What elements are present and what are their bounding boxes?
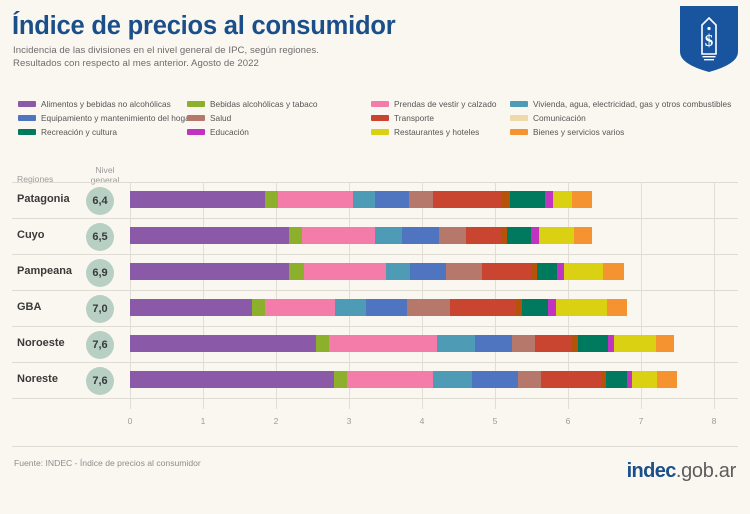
bar-segment[interactable] bbox=[656, 335, 674, 352]
stacked-bar[interactable] bbox=[130, 191, 592, 208]
indec-wordmark: indec.gob.ar bbox=[627, 460, 736, 483]
bar-segment[interactable] bbox=[482, 263, 532, 280]
page-header: Índice de precios al consumidor Incidenc… bbox=[0, 0, 750, 92]
bar-segment[interactable] bbox=[130, 263, 289, 280]
bar-segment[interactable] bbox=[564, 263, 603, 280]
bar-segment[interactable] bbox=[375, 191, 409, 208]
axis-tick-label: 5 bbox=[493, 416, 498, 426]
legend-label: Comunicación bbox=[533, 113, 586, 123]
brand-suffix: .gob.ar bbox=[676, 460, 736, 482]
brand-main: indec bbox=[627, 460, 676, 482]
legend-swatch bbox=[510, 129, 528, 135]
legend-label: Transporte bbox=[394, 113, 434, 123]
table-row[interactable]: Noreste7,6 bbox=[0, 363, 750, 399]
indec-shield-logo: $ bbox=[680, 6, 738, 72]
bar-segment[interactable] bbox=[130, 227, 289, 244]
axis-tick-label: 3 bbox=[347, 416, 352, 426]
bar-segment[interactable] bbox=[366, 299, 407, 316]
region-label: Cuyo bbox=[17, 229, 45, 241]
bar-segment[interactable] bbox=[402, 227, 439, 244]
legend-label: Alimentos y bebidas no alcohólicas bbox=[41, 99, 171, 109]
axis-tick-label: 1 bbox=[201, 416, 206, 426]
region-label: GBA bbox=[17, 301, 41, 313]
stacked-bar[interactable] bbox=[130, 227, 592, 244]
bar-segment[interactable] bbox=[606, 371, 627, 388]
bar-segment[interactable] bbox=[632, 371, 657, 388]
region-label: Noroeste bbox=[17, 337, 65, 349]
nivel-general-value: 6,9 bbox=[86, 259, 114, 287]
legend-swatch bbox=[187, 115, 205, 121]
bar-segment[interactable] bbox=[512, 335, 535, 352]
legend-swatch bbox=[371, 115, 389, 121]
bar-segment[interactable] bbox=[522, 299, 548, 316]
legend-item[interactable]: Prendas de vestir y calzado bbox=[371, 99, 496, 109]
bar-segment[interactable] bbox=[353, 191, 374, 208]
legend-item[interactable]: Restaurantes y hoteles bbox=[371, 127, 479, 137]
legend-swatch bbox=[510, 101, 528, 107]
axis-tick-label: 2 bbox=[274, 416, 279, 426]
bar-segment[interactable] bbox=[289, 263, 304, 280]
bar-segment[interactable] bbox=[556, 299, 608, 316]
bar-segment[interactable] bbox=[302, 227, 375, 244]
column-header-nivel-line1: Nivel bbox=[84, 165, 126, 175]
legend-swatch bbox=[187, 129, 205, 135]
bar-segment[interactable] bbox=[334, 371, 347, 388]
source-note: Fuente: INDEC - Índice de precios al con… bbox=[14, 458, 201, 468]
legend-label: Bebidas alcohólicas y tabaco bbox=[210, 99, 318, 109]
bar-segment[interactable] bbox=[265, 299, 335, 316]
legend-item[interactable]: Recreación y cultura bbox=[18, 127, 117, 137]
bar-segment[interactable] bbox=[553, 191, 573, 208]
legend-label: Equipamiento y mantenimiento del hogar bbox=[41, 113, 193, 123]
bar-segment[interactable] bbox=[541, 371, 601, 388]
bar-segment[interactable] bbox=[572, 191, 592, 208]
bar-segment[interactable] bbox=[545, 191, 552, 208]
bar-segment[interactable] bbox=[329, 335, 437, 352]
legend-swatch bbox=[371, 101, 389, 107]
legend-item[interactable]: Vivienda, agua, electricidad, gas y otro… bbox=[510, 99, 731, 109]
nivel-general-value: 7,6 bbox=[86, 331, 114, 359]
bar-segment[interactable] bbox=[557, 263, 564, 280]
bar-segment[interactable] bbox=[265, 191, 278, 208]
legend-swatch bbox=[18, 129, 36, 135]
axis-tick-label: 8 bbox=[712, 416, 717, 426]
region-label: Patagonia bbox=[17, 193, 70, 205]
table-row[interactable]: Cuyo6,5 bbox=[0, 219, 750, 255]
bar-segment[interactable] bbox=[548, 299, 555, 316]
legend-swatch bbox=[18, 115, 36, 121]
bar-segment[interactable] bbox=[130, 335, 316, 352]
chart-area: Regiones Nivel general Patagonia6,4Cuyo6… bbox=[0, 160, 750, 440]
bar-segment[interactable] bbox=[531, 227, 539, 244]
bar-segment[interactable] bbox=[304, 263, 386, 280]
legend-item[interactable]: Comunicación bbox=[510, 113, 586, 123]
bar-segment[interactable] bbox=[409, 191, 433, 208]
bar-segment[interactable] bbox=[518, 371, 541, 388]
legend-label: Educación bbox=[210, 127, 249, 137]
x-axis: 012345678 bbox=[0, 410, 750, 432]
bar-segment[interactable] bbox=[607, 299, 627, 316]
bar-segment[interactable] bbox=[657, 371, 677, 388]
bar-segment[interactable] bbox=[407, 299, 451, 316]
bar-segment[interactable] bbox=[347, 371, 433, 388]
legend-label: Salud bbox=[210, 113, 231, 123]
bar-segment[interactable] bbox=[433, 191, 502, 208]
bar-segment[interactable] bbox=[130, 299, 252, 316]
page-subtitle: Incidencia de las divisiones en el nivel… bbox=[13, 44, 319, 70]
bar-segment[interactable] bbox=[614, 335, 656, 352]
bar-segment[interactable] bbox=[130, 371, 334, 388]
axis-tick-label: 6 bbox=[566, 416, 571, 426]
bar-segment[interactable] bbox=[507, 227, 532, 244]
bar-segment[interactable] bbox=[574, 227, 592, 244]
subtitle-line-1: Incidencia de las divisiones en el nivel… bbox=[13, 44, 319, 57]
nivel-general-value: 6,5 bbox=[86, 223, 114, 251]
bar-segment[interactable] bbox=[537, 263, 557, 280]
legend-swatch bbox=[510, 115, 528, 121]
svg-text:$: $ bbox=[705, 31, 714, 50]
bar-segment[interactable] bbox=[535, 335, 572, 352]
bar-segment[interactable] bbox=[578, 335, 608, 352]
stacked-bar[interactable] bbox=[130, 335, 674, 352]
table-row[interactable]: Patagonia6,4 bbox=[0, 183, 750, 219]
table-row[interactable]: Noroeste7,6 bbox=[0, 327, 750, 363]
subtitle-line-2: Resultados con respecto al mes anterior.… bbox=[13, 57, 319, 70]
axis-tick-label: 0 bbox=[128, 416, 133, 426]
bar-segment[interactable] bbox=[316, 335, 329, 352]
bar-segment[interactable] bbox=[446, 263, 482, 280]
legend-label: Recreación y cultura bbox=[41, 127, 117, 137]
legend-item[interactable]: Bienes y servicios varios bbox=[510, 127, 624, 137]
table-row[interactable]: GBA7,0 bbox=[0, 291, 750, 327]
bar-segment[interactable] bbox=[289, 227, 302, 244]
bar-segment[interactable] bbox=[439, 227, 466, 244]
bar-segment[interactable] bbox=[410, 263, 446, 280]
bar-segment[interactable] bbox=[450, 299, 516, 316]
chart-legend: Alimentos y bebidas no alcohólicasBebida… bbox=[10, 99, 745, 143]
nivel-general-value: 7,6 bbox=[86, 367, 114, 395]
bar-segment[interactable] bbox=[433, 371, 472, 388]
bar-segment[interactable] bbox=[510, 191, 546, 208]
legend-swatch bbox=[187, 101, 205, 107]
bar-segment[interactable] bbox=[472, 371, 518, 388]
legend-swatch bbox=[371, 129, 389, 135]
bar-segment[interactable] bbox=[375, 227, 401, 244]
bar-segment[interactable] bbox=[437, 335, 474, 352]
bar-segment[interactable] bbox=[603, 263, 624, 280]
legend-label: Prendas de vestir y calzado bbox=[394, 99, 496, 109]
bar-segment[interactable] bbox=[475, 335, 512, 352]
legend-label: Vivienda, agua, electricidad, gas y otro… bbox=[533, 99, 731, 109]
bar-segment[interactable] bbox=[278, 191, 353, 208]
bar-segment[interactable] bbox=[252, 299, 265, 316]
legend-swatch bbox=[18, 101, 36, 107]
stacked-bar[interactable] bbox=[130, 263, 624, 280]
nivel-general-value: 6,4 bbox=[86, 187, 114, 215]
bar-segment[interactable] bbox=[335, 299, 366, 316]
nivel-general-value: 7,0 bbox=[86, 295, 114, 323]
axis-tick-label: 7 bbox=[639, 416, 644, 426]
bar-segment[interactable] bbox=[130, 191, 265, 208]
legend-item[interactable]: Equipamiento y mantenimiento del hogar bbox=[18, 113, 193, 123]
legend-item[interactable]: Alimentos y bebidas no alcohólicas bbox=[18, 99, 171, 109]
page-title: Índice de precios al consumidor bbox=[12, 12, 396, 41]
table-row[interactable]: Pampeana6,9 bbox=[0, 255, 750, 291]
stacked-bar[interactable] bbox=[130, 371, 677, 388]
legend-item[interactable]: Salud bbox=[187, 113, 231, 123]
bar-segment[interactable] bbox=[466, 227, 501, 244]
legend-item[interactable]: Transporte bbox=[371, 113, 434, 123]
row-divider bbox=[12, 398, 738, 399]
axis-tick-label: 4 bbox=[420, 416, 425, 426]
footer-divider bbox=[12, 446, 738, 447]
region-label: Pampeana bbox=[17, 265, 72, 277]
bar-segment[interactable] bbox=[539, 227, 573, 244]
legend-label: Bienes y servicios varios bbox=[533, 127, 624, 137]
region-label: Noreste bbox=[17, 373, 58, 385]
bar-segment[interactable] bbox=[502, 191, 509, 208]
legend-label: Restaurantes y hoteles bbox=[394, 127, 479, 137]
legend-item[interactable]: Educación bbox=[187, 127, 249, 137]
stacked-bar[interactable] bbox=[130, 299, 627, 316]
bar-segment[interactable] bbox=[386, 263, 410, 280]
legend-item[interactable]: Bebidas alcohólicas y tabaco bbox=[187, 99, 318, 109]
